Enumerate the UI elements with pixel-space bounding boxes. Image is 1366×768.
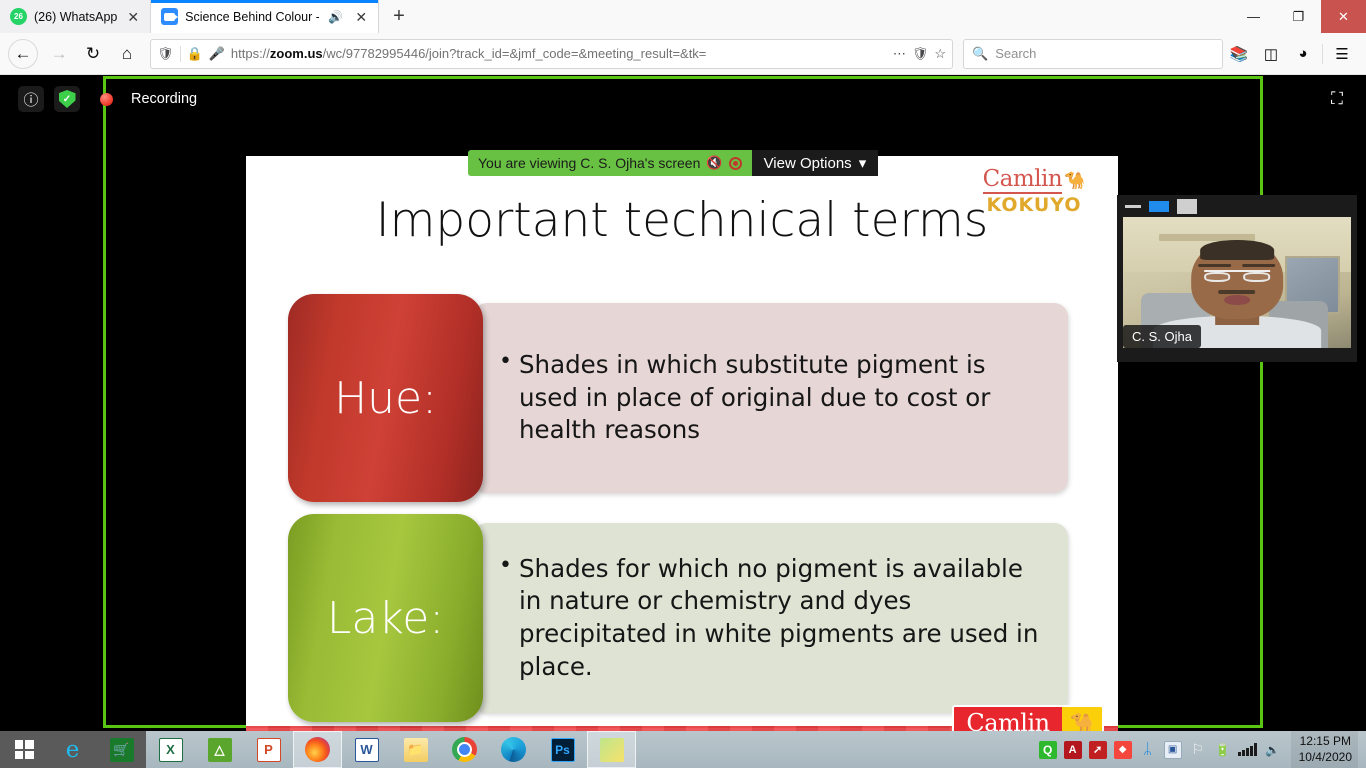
tab-whatsapp[interactable]: 26 (26) WhatsApp ✕	[0, 0, 151, 33]
participant-mouth	[1224, 295, 1250, 304]
start-button[interactable]	[0, 731, 48, 768]
hue-tag-label: Hue:	[288, 294, 483, 502]
list-item: Shades in which substitute pigment is us…	[499, 349, 1048, 447]
pocket-icon[interactable]: 🛡	[912, 46, 929, 62]
signal-bars-icon[interactable]	[1239, 741, 1257, 759]
glasses-lens-right	[1244, 272, 1270, 282]
back-button[interactable]: ←	[8, 39, 38, 69]
screen-root: 26 (26) WhatsApp ✕ Science Behind Colour…	[0, 0, 1366, 768]
shield-check-icon: ✓	[59, 90, 76, 108]
bluetooth-icon[interactable]: ᛦ	[1139, 741, 1157, 759]
view-options-label: View Options	[764, 155, 852, 172]
maximize-button[interactable]: ❐	[1276, 0, 1321, 33]
realtek-audio-icon[interactable]: ◆	[1114, 741, 1132, 759]
recording-label: Recording	[131, 91, 197, 107]
mic-muted-icon: 🔇	[706, 155, 722, 171]
participant-hair	[1200, 240, 1274, 261]
url-protocol: https://	[231, 46, 270, 61]
home-button[interactable]: ⌂	[110, 39, 144, 69]
fullscreen-icon[interactable]: ⛶	[1324, 86, 1350, 112]
slide-item-lake: Lake: Shades for which no pigment is ava…	[288, 514, 1068, 722]
shared-slide: Colours – Important technical terms Caml…	[246, 156, 1118, 768]
security-shield-icon[interactable]: ✓	[54, 86, 80, 112]
viewing-banner-text: You are viewing C. S. Ojha's screen	[478, 155, 700, 171]
video-panel-controls	[1117, 195, 1357, 217]
url-path: /wc/97782995446/join?track_id=&jmf_code=…	[323, 46, 707, 61]
photoshop-icon: Ps	[551, 738, 575, 762]
participant-eyebrow-left	[1198, 264, 1231, 268]
tab-zoom[interactable]: Science Behind Colour - A V 🔊 ✕	[151, 0, 379, 33]
browser-nav-bar: ← → ↻ ⌂ 🛡 🔒 🎤 https://zoom.us/wc/9778299…	[0, 33, 1366, 75]
tab-title: (26) WhatsApp	[34, 10, 117, 24]
microphone-icon[interactable]: 🎤	[209, 46, 225, 62]
url-bar[interactable]: 🛡 🔒 🎤 https://zoom.us/wc/97782995446/joi…	[150, 39, 953, 69]
wps-office-icon: △	[208, 738, 232, 762]
action-center-flag-icon[interactable]: ⚐	[1189, 741, 1207, 759]
tab-title: Science Behind Colour - A V	[185, 10, 319, 24]
system-tray: Q A ➚ ◆ ᛦ ▣ ⚐ 🔋 🔊 12:15 PM 10/4/2020	[1039, 731, 1366, 768]
quick-heal-icon[interactable]: Q	[1039, 741, 1057, 759]
new-tab-button[interactable]: +	[379, 0, 419, 33]
taskbar-item-wps-office[interactable]: △	[195, 731, 244, 768]
taskbar-item-excel[interactable]: X	[146, 731, 195, 768]
tab-title-text: Science Behind Colour - A	[185, 10, 319, 24]
whatsapp-icon: 26	[10, 8, 27, 25]
taskbar-item-file-explorer[interactable]: 📁	[391, 731, 440, 768]
minimize-button[interactable]: —	[1231, 0, 1276, 33]
zoom-top-toolbar: ⓘ ✓ Recording	[0, 76, 1366, 122]
lake-tag-label: Lake:	[288, 514, 483, 722]
clock-date: 10/4/2020	[1299, 750, 1352, 765]
search-icon: 🔍	[972, 46, 988, 62]
taskbar-item-powerpoint[interactable]: P	[244, 731, 293, 768]
glasses-lens-left	[1204, 272, 1230, 282]
zoom-icon	[161, 8, 178, 25]
library-icon[interactable]: 📚	[1223, 39, 1255, 69]
lake-description-panel: Shades for which no pigment is available…	[473, 523, 1068, 713]
glasses-icon	[1204, 270, 1270, 282]
chrome-icon	[452, 737, 477, 762]
hue-description-panel: Shades in which substitute pigment is us…	[473, 303, 1068, 493]
excel-icon: X	[159, 738, 183, 762]
participant-eyebrow-right	[1243, 264, 1276, 268]
edge-icon	[501, 737, 526, 762]
camlin-kokuyo-logo: Camlin🐪 KOKUYO	[968, 168, 1100, 215]
taskbar-item-internet-explorer[interactable]: e	[48, 731, 97, 768]
forward-button[interactable]: →	[42, 39, 76, 69]
divider	[1322, 44, 1323, 64]
participant-video-panel[interactable]: C. S. Ojha	[1117, 195, 1357, 362]
clock-time: 12:15 PM	[1299, 734, 1352, 749]
taskbar-item-word[interactable]: W	[342, 731, 391, 768]
participant-name-label: C. S. Ojha	[1123, 325, 1201, 348]
recording-indicator-icon	[100, 93, 113, 106]
camlin-brand-text: Camlin	[983, 168, 1063, 194]
restore-video-icon[interactable]	[1149, 201, 1169, 212]
url-text: https://zoom.us/wc/97782995446/join?trac…	[231, 46, 887, 61]
view-options-button[interactable]: View Options ▾	[752, 150, 879, 176]
acrobat-icon[interactable]: ➚	[1089, 741, 1107, 759]
participant-moustache	[1219, 290, 1256, 295]
menu-icon[interactable]: ☰	[1326, 39, 1358, 69]
taskbar-item-photoshop[interactable]: Ps	[538, 731, 587, 768]
slide-item-hue: Hue: Shades in which substitute pigment …	[288, 294, 1068, 502]
participant-head	[1191, 240, 1283, 319]
account-icon[interactable]: ◕	[1287, 39, 1319, 69]
divider	[180, 46, 181, 62]
taskbar-item-microsoft-edge[interactable]	[489, 731, 538, 768]
battery-icon[interactable]: 🔋	[1214, 741, 1232, 759]
internet-explorer-icon: e	[61, 738, 85, 762]
star-icon[interactable]: ☆	[934, 46, 946, 62]
search-placeholder: Search	[995, 46, 1036, 61]
volume-icon[interactable]: 🔊	[1264, 741, 1282, 759]
taskbar-apps: e 🛒 X △ P W 📁 Ps	[48, 731, 636, 768]
taskbar-item-google-chrome[interactable]	[440, 731, 489, 768]
taskbar-clock[interactable]: 12:15 PM 10/4/2020	[1291, 731, 1358, 768]
viewing-screen-banner: You are viewing C. S. Ojha's screen 🔇 Vi…	[468, 150, 878, 176]
lock-icon[interactable]: 🔒	[187, 46, 203, 62]
reload-button[interactable]: ↻	[76, 39, 110, 69]
search-bar[interactable]: 🔍 Search	[963, 39, 1223, 69]
minimize-video-icon[interactable]	[1125, 205, 1141, 208]
microsoft-store-icon: 🛒	[110, 738, 134, 762]
list-item: Shades for which no pigment is available…	[499, 553, 1048, 683]
tracking-shield-icon[interactable]: 🛡	[157, 46, 174, 62]
sidebar-icon[interactable]: ◫	[1255, 39, 1287, 69]
speaker-icon[interactable]: 🔊	[326, 10, 345, 24]
ellipsis-icon[interactable]: ⋯	[893, 46, 906, 62]
zoom-meeting-stage: ⓘ ✓ Recording ⛶ Colours – Important tech…	[0, 76, 1366, 731]
taskbar-item-sticky-notes[interactable]	[587, 731, 636, 768]
close-window-button[interactable]: ✕	[1321, 0, 1366, 33]
record-icon	[729, 157, 742, 170]
file-explorer-icon: 📁	[404, 738, 428, 762]
url-domain: zoom.us	[270, 46, 323, 61]
maximize-video-icon[interactable]	[1177, 199, 1197, 214]
viewing-banner-green: You are viewing C. S. Ojha's screen 🔇	[468, 150, 752, 176]
info-icon[interactable]: ⓘ	[18, 86, 44, 112]
window-controls: — ❐ ✕	[1231, 0, 1366, 33]
app-tray-icon[interactable]: ▣	[1164, 741, 1182, 759]
close-icon[interactable]: ✕	[352, 10, 370, 24]
chevron-down-icon: ▾	[859, 154, 867, 172]
windows-logo-icon	[15, 740, 34, 759]
sticky-notes-icon	[600, 738, 624, 762]
taskbar-item-microsoft-store[interactable]: 🛒	[97, 731, 146, 768]
windows-taskbar: e 🛒 X △ P W 📁 Ps	[0, 731, 1366, 768]
kokuyo-text: KOKUYO	[968, 196, 1100, 215]
adobe-icon[interactable]: A	[1064, 741, 1082, 759]
firefox-icon	[305, 737, 330, 762]
word-icon: W	[355, 738, 379, 762]
taskbar-item-firefox[interactable]	[293, 731, 342, 768]
close-icon[interactable]: ✕	[124, 10, 142, 24]
camel-icon: 🐪	[1064, 171, 1085, 190]
browser-tab-bar: 26 (26) WhatsApp ✕ Science Behind Colour…	[0, 0, 1366, 33]
powerpoint-icon: P	[257, 738, 281, 762]
